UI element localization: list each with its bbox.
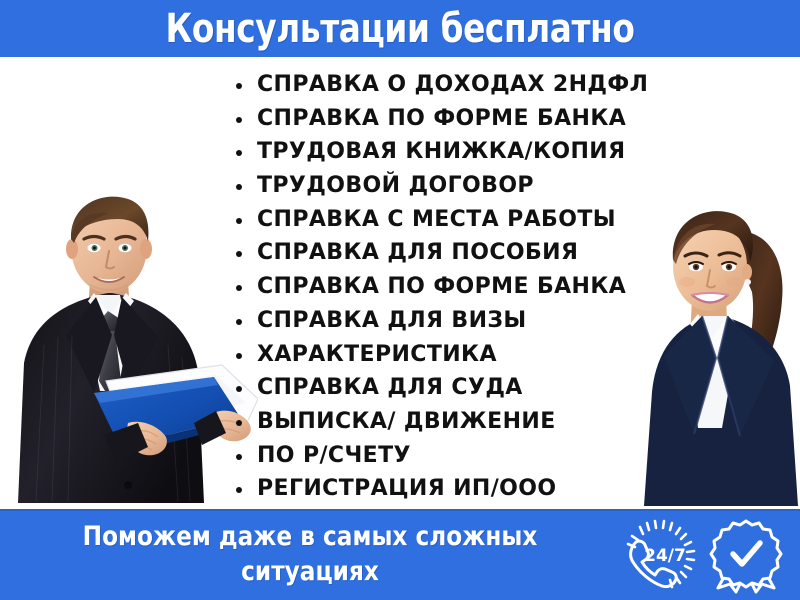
phone-24-7-icon: 24/7: [620, 518, 698, 592]
advertisement-poster: Консультации бесплатно: [0, 0, 800, 600]
list-item: РЕГИСТРАЦИЯ ИП/ООО: [232, 472, 702, 506]
list-item: СПРАВКА ПО ФОРМЕ БАНКА: [232, 102, 702, 136]
businessman-illustration: [8, 185, 258, 509]
bottom-slogan-line-2: ситуациях: [61, 554, 560, 589]
phone-24-7-badge: 24/7: [620, 518, 698, 592]
page-title: Консультации бесплатно: [165, 7, 634, 51]
phone-badge-label: 24/7: [644, 546, 686, 566]
list-item: ТРУДОВАЯ КНИЖКА/КОПИЯ: [232, 135, 702, 169]
list-item: СПРАВКА ДЛЯ ВИЗЫ: [232, 304, 702, 338]
bottom-slogan-line-1: Поможем даже в самых сложных: [61, 519, 560, 554]
top-banner: Консультации бесплатно: [0, 0, 800, 57]
award-check-badge: [708, 518, 784, 594]
list-item: СПРАВКА ПО ФОРМЕ БАНКА: [232, 270, 702, 304]
list-item: СПРАВКА С МЕСТА РАБОТЫ: [232, 203, 702, 237]
list-item: ТРУДОВОЙ ДОГОВОР: [232, 169, 702, 203]
list-item: СПРАВКА ДЛЯ ПОСОБИЯ: [232, 236, 702, 270]
list-item: СПРАВКА ДЛЯ СУДА: [232, 371, 702, 405]
services-list: СПРАВКА О ДОХОДАХ 2НДФЛ СПРАВКА ПО ФОРМЕ…: [232, 68, 702, 506]
list-item: ПО Р/СЧЕТУ: [232, 439, 702, 473]
list-item: СПРАВКА О ДОХОДАХ 2НДФЛ: [232, 68, 702, 102]
bottom-slogan: Поможем даже в самых сложных ситуациях: [61, 519, 560, 589]
businessman-photo: [8, 185, 258, 509]
list-item: ХАРАКТЕРИСТИКА: [232, 338, 702, 372]
list-item: ВЫПИСКА/ ДВИЖЕНИЕ: [232, 405, 702, 439]
award-check-icon: [708, 518, 784, 594]
